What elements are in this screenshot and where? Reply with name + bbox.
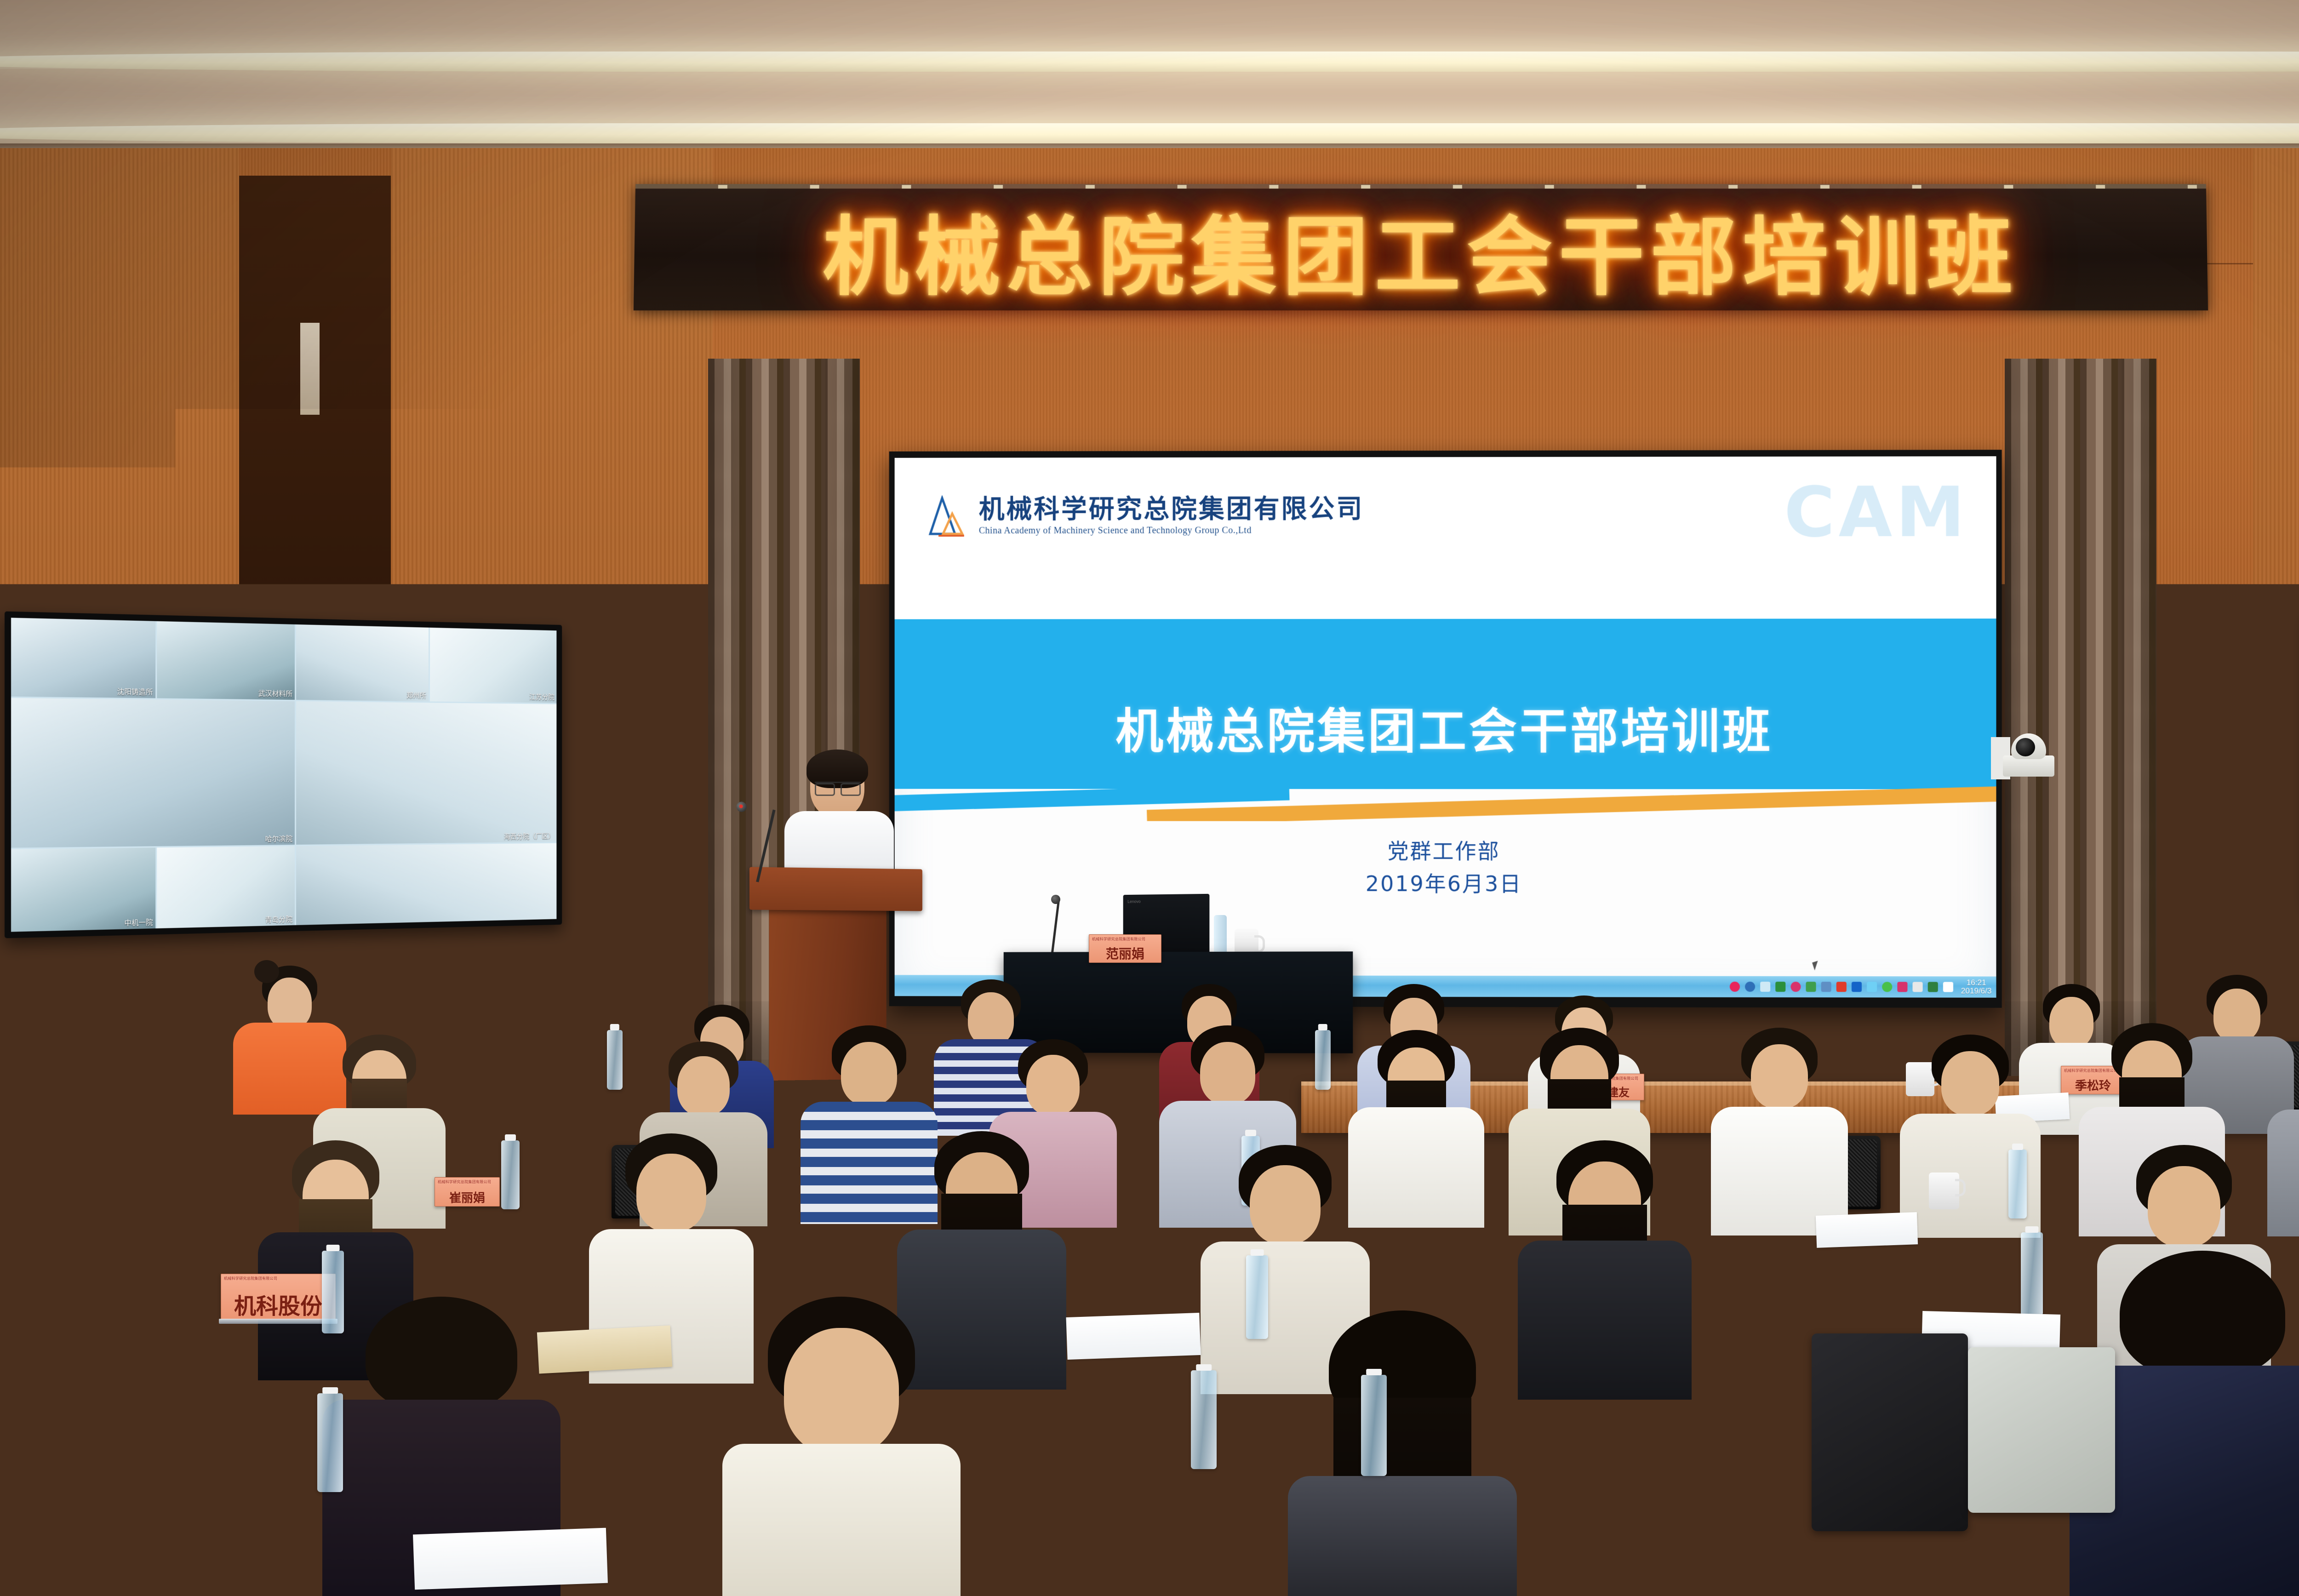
water-bottle bbox=[607, 1030, 623, 1090]
network-icon[interactable] bbox=[1912, 982, 1922, 992]
slide-department: 党群工作部 bbox=[895, 835, 1996, 868]
mug bbox=[1929, 1173, 1959, 1209]
signal-icon[interactable] bbox=[1928, 982, 1938, 992]
company-logo: 机械科学研究总院集团有限公司 China Academy of Machiner… bbox=[928, 495, 1364, 538]
ceiling-cove-light-upper bbox=[0, 51, 2299, 72]
conference-hall-photo: 机械总院集团工会干部培训班 CAM 机械科学研究总院集团有限公司 China A… bbox=[0, 0, 2299, 1596]
wall-light-slot-left bbox=[300, 323, 320, 415]
water-bottle bbox=[317, 1393, 343, 1492]
triangle-logo-icon bbox=[928, 495, 972, 538]
attendee bbox=[722, 1297, 961, 1596]
nameplate-fanlijuan: 机械科学研究总院集团有限公司 范丽娟 bbox=[1089, 934, 1161, 963]
slide-subtitle: 党群工作部 2019年6月3日 bbox=[895, 835, 1996, 901]
update-icon[interactable] bbox=[1882, 982, 1892, 992]
speaker-person bbox=[782, 754, 897, 883]
usb-icon[interactable] bbox=[1760, 982, 1770, 992]
clock-date: 2019/6/3 bbox=[1961, 987, 1992, 995]
video-cell: 青岛分院 bbox=[157, 846, 295, 928]
stage-curtain-right bbox=[2005, 359, 2156, 1076]
mouse-cursor-icon bbox=[1812, 961, 1820, 970]
help-icon[interactable] bbox=[1745, 982, 1755, 992]
led-banner-text: 机械总院集团工会干部培训班 bbox=[822, 188, 2019, 312]
bluetooth-icon[interactable] bbox=[1852, 982, 1862, 992]
video-cell: 郑州所 bbox=[296, 624, 429, 701]
video-cell: 沈阳铸造所 bbox=[11, 618, 155, 698]
ceiling-cove-light-lower bbox=[0, 123, 2299, 143]
logo-english-name: China Academy of Machinery Science and T… bbox=[979, 525, 1364, 536]
video-cell: 海西分院（厂区） bbox=[296, 701, 556, 845]
notebook bbox=[579, 1534, 736, 1588]
paper-sheet bbox=[1816, 1212, 1918, 1248]
sync-icon[interactable] bbox=[1790, 982, 1801, 992]
paper-sheet bbox=[1047, 1514, 1233, 1576]
nameplate-name: 范丽娟 bbox=[1106, 948, 1144, 961]
slide-swoosh-divider bbox=[895, 784, 1996, 822]
nameplate-jike-gufen: 机械科学研究总院集团有限公司 机科股份 bbox=[221, 1274, 336, 1320]
cam-watermark: CAM bbox=[1784, 473, 1968, 553]
nameplate-name: 机科股份 bbox=[234, 1295, 322, 1317]
ptz-camera-icon bbox=[1991, 729, 2060, 784]
ceiling-band bbox=[0, 69, 2299, 128]
shield-icon[interactable] bbox=[1806, 982, 1816, 992]
battery-icon[interactable] bbox=[1775, 982, 1785, 992]
paper-sheet bbox=[103, 1194, 196, 1226]
handbag bbox=[1968, 1347, 2115, 1513]
video-cell-label: 郑州所 bbox=[406, 690, 426, 700]
video-cell: 哈尔滨院 bbox=[11, 698, 295, 848]
attendee bbox=[2267, 1028, 2299, 1235]
laptop-brand-label: Lenovo bbox=[1127, 899, 1140, 904]
backpack bbox=[1812, 1333, 1968, 1531]
nameplate-header: 机械科学研究总院集团有限公司 bbox=[224, 1276, 277, 1281]
attendee bbox=[1710, 1028, 1848, 1235]
video-cell-label: 青岛分院 bbox=[265, 914, 292, 924]
led-banner: 机械总院集团工会干部培训班 bbox=[634, 184, 2208, 310]
slide-date: 2019年6月3日 bbox=[895, 867, 1996, 901]
video-conference-grid-left: 沈阳铸造所 武汉材料所 郑州所 江苏分院 哈尔滨院 海西分院（厂区） 中机一院 … bbox=[11, 618, 556, 932]
video-cell: 江苏分院 bbox=[430, 628, 557, 703]
video-cell-label: 江苏分院 bbox=[529, 692, 555, 702]
attendee bbox=[1600, 1412, 1839, 1596]
banner-mount-studs bbox=[635, 185, 2206, 189]
foxit-icon[interactable] bbox=[1897, 982, 1907, 992]
speaker-icon[interactable] bbox=[1836, 982, 1847, 992]
water-bottle bbox=[2008, 1150, 2027, 1218]
water-bottle bbox=[1246, 1255, 1268, 1339]
slide-title: 机械总院集团工会干部培训班 bbox=[895, 692, 1996, 761]
video-cell-label: 武汉材料所 bbox=[258, 688, 293, 698]
video-cell-label: 沈阳铸造所 bbox=[117, 686, 153, 697]
sogou-input-icon[interactable] bbox=[1730, 982, 1740, 992]
taskbar-clock[interactable]: 16:21 2019/6/3 bbox=[1961, 979, 1992, 995]
paper-sheet bbox=[1066, 1313, 1201, 1360]
display-icon[interactable] bbox=[1821, 982, 1831, 992]
water-bottle bbox=[1361, 1375, 1387, 1476]
attendee bbox=[1287, 1310, 1517, 1596]
attendee bbox=[1517, 1140, 1692, 1398]
nameplate-name: 崔丽娟 bbox=[449, 1192, 485, 1204]
attendee bbox=[0, 1361, 212, 1596]
water-bottle bbox=[501, 1140, 520, 1209]
check-icon[interactable] bbox=[1867, 982, 1877, 992]
ceiling bbox=[0, 0, 2299, 152]
video-cell: 武汉材料所 bbox=[157, 621, 295, 700]
video-cell: 中机一院 bbox=[11, 848, 155, 932]
nameplate-header: 机械科学研究总院集团有限公司 bbox=[438, 1179, 491, 1184]
microphone-icon bbox=[1051, 895, 1060, 904]
water-bottle bbox=[1315, 1030, 1331, 1090]
water-bottle bbox=[1191, 1370, 1217, 1469]
nameplate-name: 中机认检 bbox=[1681, 1274, 1766, 1295]
water-bottle bbox=[2021, 1232, 2043, 1316]
volume-icon[interactable] bbox=[1943, 982, 1953, 992]
nameplate-header: 机械科学研究总院集团有限公司 bbox=[1092, 937, 1145, 942]
attendee bbox=[487, 975, 598, 1122]
wall-display-left: 沈阳铸造所 武汉材料所 郑州所 江苏分院 哈尔滨院 海西分院（厂区） 中机一院 … bbox=[5, 612, 562, 938]
video-cell-label: 中机一院 bbox=[124, 917, 153, 928]
nameplate-cuilijuan: 机械科学研究总院集团有限公司 崔丽娟 bbox=[435, 1177, 500, 1207]
video-cell-empty bbox=[296, 843, 556, 925]
presentation-slide: CAM 机械科学研究总院集团有限公司 China Academy of Mach… bbox=[895, 456, 1996, 998]
video-cell-label: 哈尔滨院 bbox=[265, 834, 292, 844]
logo-chinese-name: 机械科学研究总院集团有限公司 bbox=[979, 496, 1364, 522]
clock-time: 16:21 bbox=[1967, 978, 1986, 987]
video-cell-label: 海西分院（厂区） bbox=[504, 831, 555, 841]
